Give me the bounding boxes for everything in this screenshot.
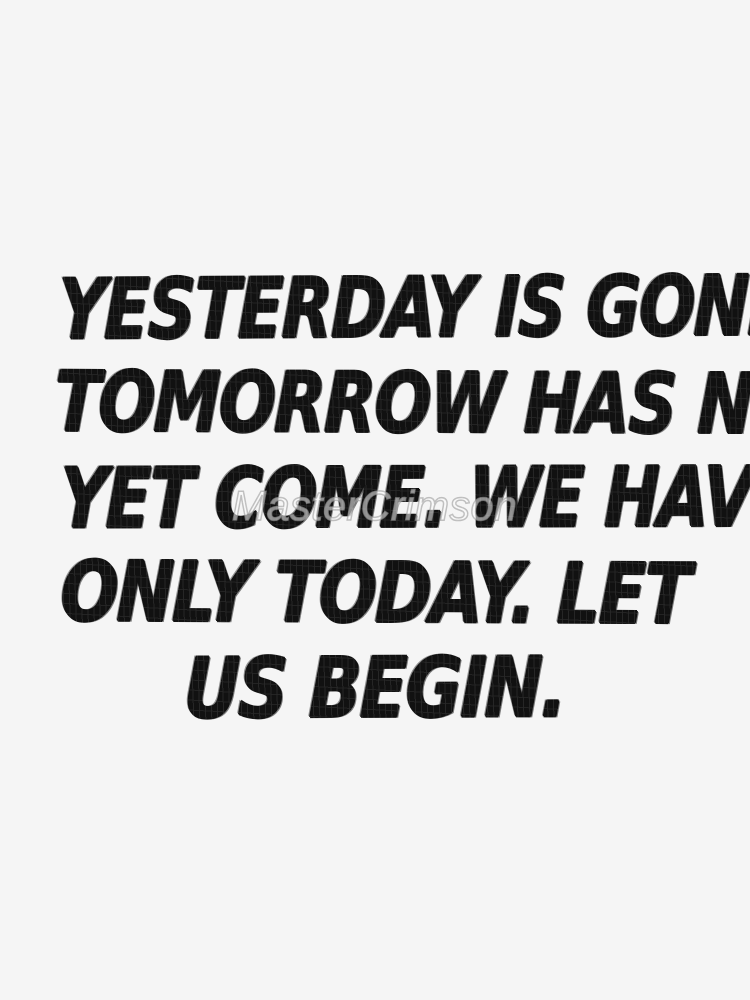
- artboard: YESTERDAY IS GONE. TOMORROW HAS NOT YET …: [0, 0, 750, 1000]
- quote-line-3: YET COME. WE HAVE: [59, 448, 692, 551]
- quote-line-4: ONLY TODAY. LET: [47, 542, 703, 646]
- quote-line-1: YESTERDAY IS GONE.: [57, 257, 693, 362]
- quote-block: YESTERDAY IS GONE. TOMORROW HAS NOT YET …: [0, 262, 750, 737]
- quote-line-2: TOMORROW HAS NOT: [53, 353, 697, 457]
- quote-line-5: US BEGIN.: [44, 638, 707, 742]
